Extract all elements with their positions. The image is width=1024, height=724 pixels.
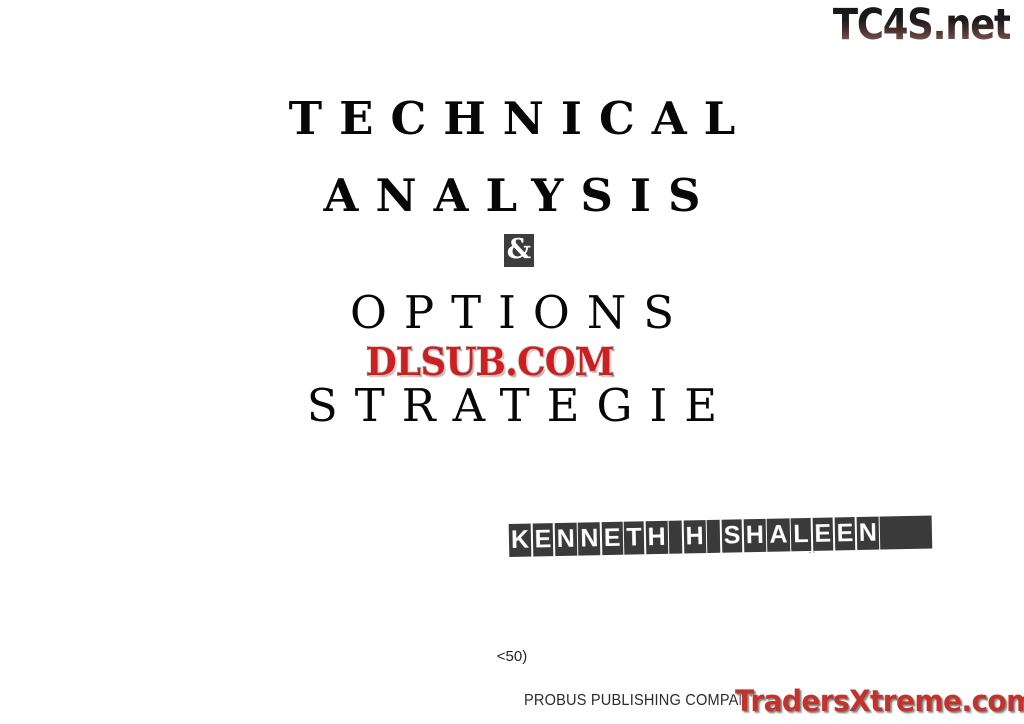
cover-footer: PROBUS PUBLISHING COMPANY TradersXtreme.… — [0, 685, 1024, 715]
author-tile: H — [743, 519, 766, 552]
author-tile: N — [554, 523, 577, 556]
watermark-tradersxtreme-com: TradersXtreme.com — [735, 684, 1024, 718]
author-tile: E — [532, 523, 553, 556]
subtitle-line-options: OPTIONS — [0, 290, 1024, 335]
author-tile: E — [602, 522, 623, 555]
author-tile: N — [578, 522, 601, 555]
author-name-plate: K E N N E T H H S H A L E E N ·· — [509, 515, 935, 557]
watermark-tc4s-net: TC4S.net — [832, 4, 1010, 47]
author-tile-blank — [880, 516, 933, 550]
author-tile: E — [834, 517, 855, 550]
author-tile: L — [791, 518, 812, 551]
author-tile: S — [721, 519, 742, 552]
book-cover-page: TC4S.net TECHNICAL ANALYSIS & OPTIONS ST… — [0, 0, 1024, 724]
author-tile: H — [683, 520, 706, 553]
author-tile: H — [645, 521, 668, 554]
author-tile: N — [856, 517, 879, 550]
title-line-analysis: ANALYSIS — [0, 173, 1024, 218]
subtitle-line-strategie: STRATEGIE — [0, 383, 1024, 428]
ampersand-glyph: & — [504, 234, 534, 267]
author-tile: A — [767, 518, 790, 551]
ampersand-block: & — [0, 234, 1024, 267]
title-line-technical: TECHNICAL — [0, 96, 1024, 141]
author-tile: K — [509, 524, 532, 557]
watermark-dlsub-com: DLSUB.COM — [366, 341, 614, 383]
author-tile-space — [707, 520, 721, 553]
author-tile: E — [812, 517, 833, 550]
author-tile-space — [669, 521, 683, 554]
price-mark: <50) — [0, 648, 1024, 665]
author-tile: T — [624, 521, 645, 554]
publisher-name: PROBUS PUBLISHING COMPANY — [524, 692, 759, 710]
